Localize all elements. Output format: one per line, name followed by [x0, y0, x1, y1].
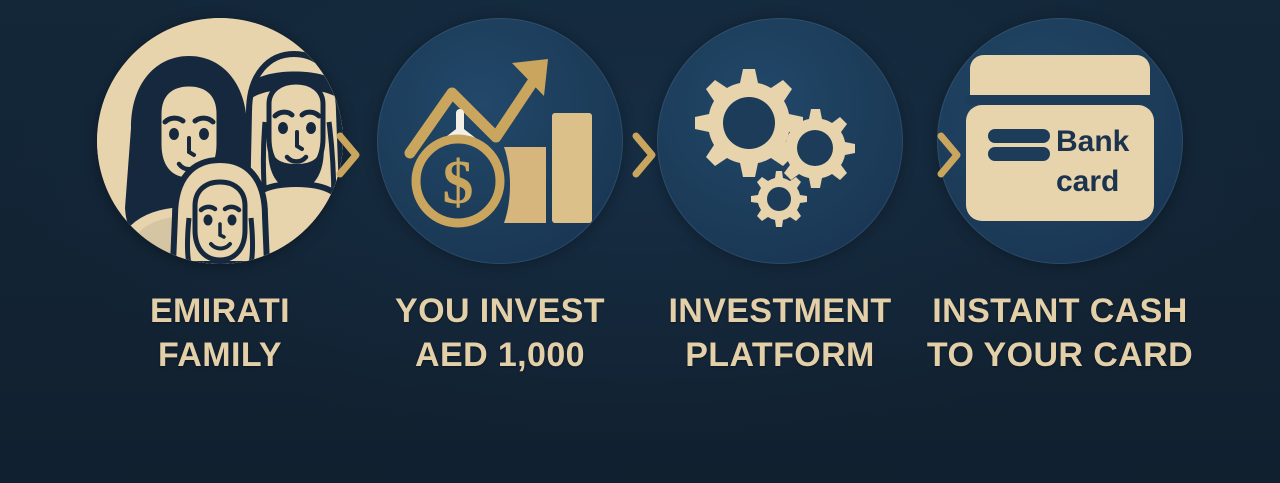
- step-1-caption: EMIRATI FAMILY: [150, 290, 290, 377]
- separator-1: [331, 128, 365, 182]
- chevron-right-icon: [936, 132, 962, 178]
- gears-icon: [675, 41, 885, 241]
- step-4-caption: INSTANT CASH TO YOUR CARD: [927, 290, 1193, 377]
- step-you-invest[interactable]: $ YOU INVEST AED 1,000: [360, 18, 640, 377]
- step-2-caption: YOU INVEST AED 1,000: [395, 290, 605, 377]
- step-investment-platform[interactable]: INVESTMENT PLATFORM: [640, 18, 920, 377]
- step-2-disc: $: [377, 18, 623, 264]
- step-3-disc: [657, 18, 903, 264]
- chevron-right-icon: [631, 132, 657, 178]
- investment-growth-icon: $: [400, 41, 600, 241]
- bank-card-icon: Bank card: [956, 51, 1164, 231]
- separator-3: [932, 128, 966, 182]
- step-4-disc: Bank card: [937, 18, 1183, 264]
- step-3-caption: INVESTMENT PLATFORM: [668, 290, 891, 377]
- step-1-disc: [97, 18, 343, 264]
- step-instant-cash[interactable]: Bank card INSTANT CASH TO YOUR CARD: [920, 18, 1200, 377]
- bank-card-label-line-1: Bank: [1056, 125, 1130, 158]
- process-flow: EMIRATI FAMILY $ YOU INVEST AED 1,000: [0, 0, 1280, 483]
- bank-card-label-line-2: card: [1056, 165, 1119, 198]
- emirati-family-icon: [97, 18, 343, 264]
- separator-2: [627, 128, 661, 182]
- chevron-right-icon: [335, 132, 361, 178]
- step-emirati-family[interactable]: EMIRATI FAMILY: [80, 18, 360, 377]
- svg-text:$: $: [443, 149, 474, 217]
